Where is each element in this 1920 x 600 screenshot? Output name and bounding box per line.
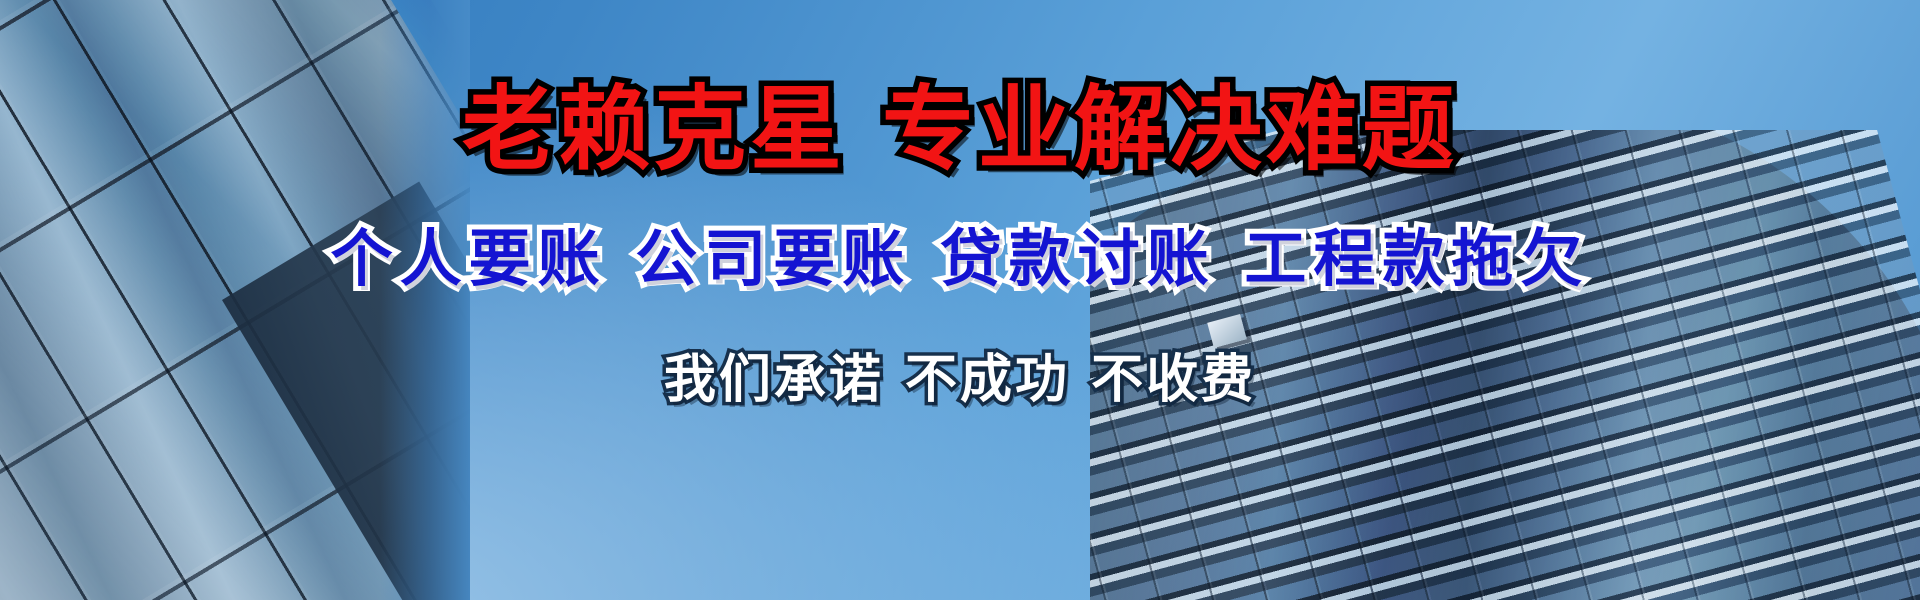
- banner-services-list: 个人要账 公司要账 贷款讨账 工程款拖欠: [0, 228, 1920, 290]
- banner-copy: 老赖克星 专业解决难题 个人要账 公司要账 贷款讨账 工程款拖欠 我们承诺 不成…: [0, 0, 1920, 600]
- banner-headline: 老赖克星 专业解决难题: [0, 84, 1920, 176]
- debt-collection-banner: 老赖克星 专业解决难题 个人要账 公司要账 贷款讨账 工程款拖欠 我们承诺 不成…: [0, 0, 1920, 600]
- banner-promise-text: 我们承诺 不成功 不收费: [0, 354, 1920, 406]
